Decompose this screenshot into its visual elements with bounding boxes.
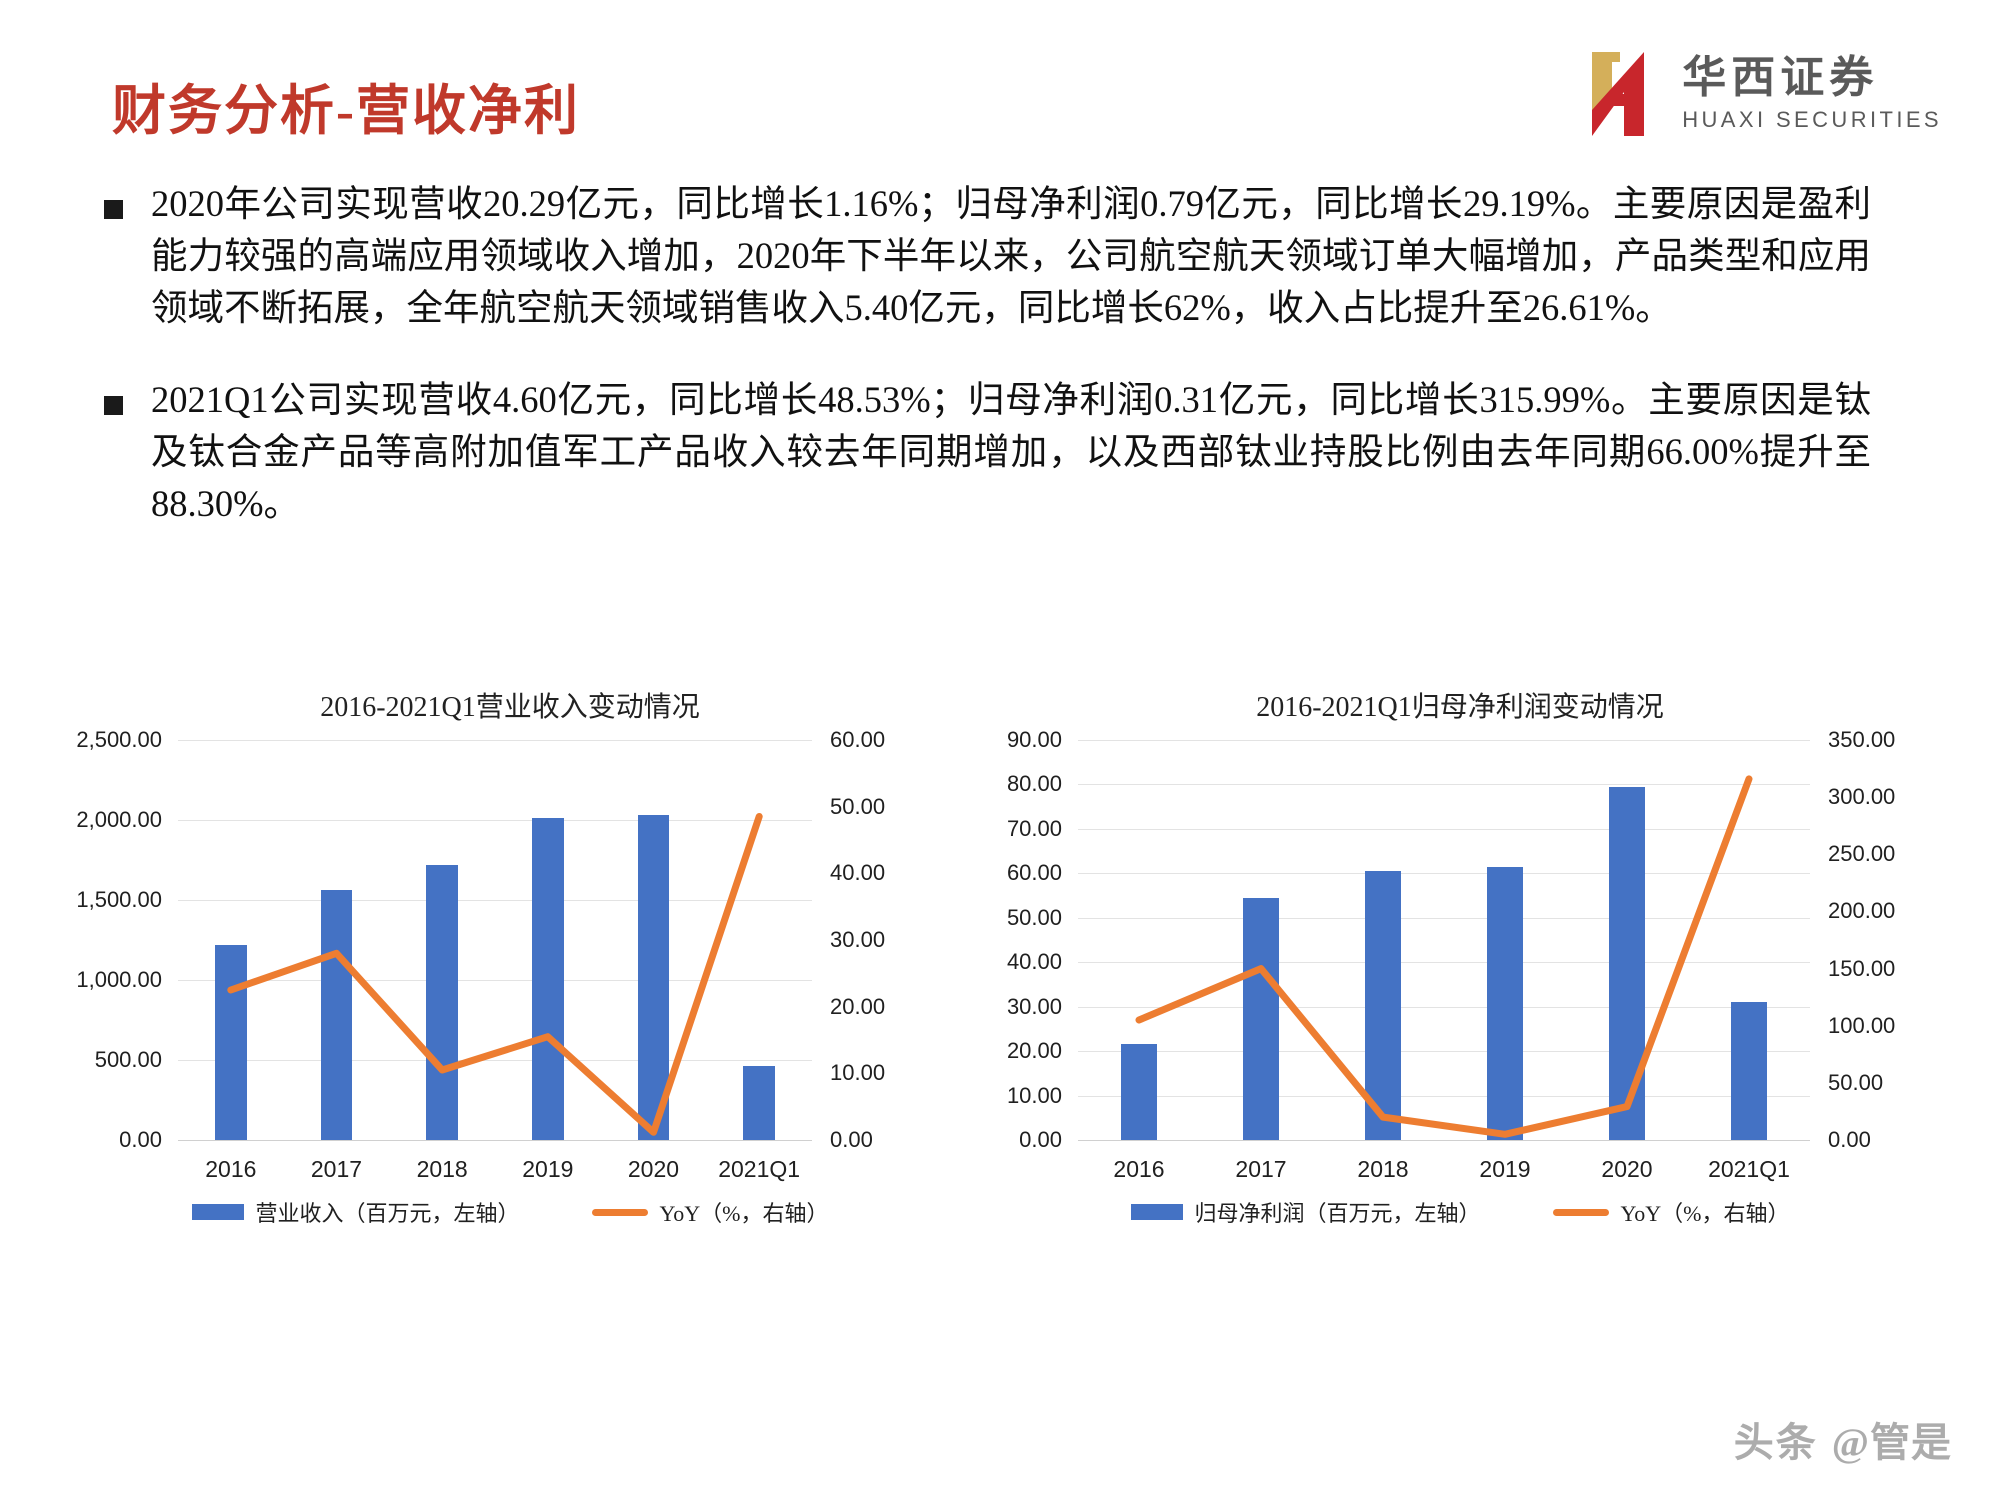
x-axis-tick-label: 2017 bbox=[284, 1156, 390, 1183]
legend-label: YoY（%，右轴） bbox=[1621, 1196, 1790, 1228]
legend-bar-swatch-icon bbox=[1131, 1204, 1183, 1220]
y2-axis-tick-label: 10.00 bbox=[830, 1062, 885, 1084]
legend-label: YoY（%，右轴） bbox=[660, 1196, 829, 1228]
plot-canvas bbox=[1078, 740, 1810, 1140]
y2-axis-tick-label: 30.00 bbox=[830, 929, 885, 951]
y-axis-tick-label: 40.00 bbox=[960, 951, 1062, 973]
y2-axis-tick-label: 350.00 bbox=[1828, 729, 1895, 751]
chart-legend: 营业收入（百万元，左轴）YoY（%，右轴） bbox=[70, 1196, 950, 1228]
chart-net-profit: 2016-2021Q1归母净利润变动情况 0.0010.0020.0030.00… bbox=[960, 690, 1960, 1330]
huaxi-h-logo-icon bbox=[1586, 48, 1660, 140]
y-axis-tick-label: 80.00 bbox=[960, 773, 1062, 795]
bullet-item: 2020年公司实现营收20.29亿元，同比增长1.16%；归母净利润0.79亿元… bbox=[104, 178, 1904, 334]
y-axis-tick-label: 70.00 bbox=[960, 818, 1062, 840]
y2-axis-tick-label: 250.00 bbox=[1828, 843, 1895, 865]
square-bullet-icon bbox=[104, 200, 123, 219]
y-axis-tick-label: 50.00 bbox=[960, 907, 1062, 929]
chart-revenue: 2016-2021Q1营业收入变动情况 0.00500.001,000.001,… bbox=[70, 690, 950, 1330]
y2-axis-tick-label: 0.00 bbox=[830, 1129, 873, 1151]
x-axis-tick-label: 2017 bbox=[1200, 1156, 1322, 1183]
watermark-toutiao: 头条 bbox=[1734, 1410, 1818, 1468]
square-bullet-icon bbox=[104, 396, 123, 415]
y-axis-tick-label: 2,000.00 bbox=[70, 809, 162, 831]
company-logo: 华西证券 HUAXI SECURITIES bbox=[1586, 48, 1942, 140]
y2-axis-tick-label: 50.00 bbox=[1828, 1072, 1883, 1094]
y-axis-tick-label: 1,500.00 bbox=[70, 889, 162, 911]
chart-title: 2016-2021Q1归母净利润变动情况 bbox=[960, 690, 1960, 726]
y-axis-tick-label: 2,500.00 bbox=[70, 729, 162, 751]
x-axis-tick-label: 2016 bbox=[1078, 1156, 1200, 1183]
chart-title: 2016-2021Q1营业收入变动情况 bbox=[70, 690, 950, 726]
y-axis-tick-label: 20.00 bbox=[960, 1040, 1062, 1062]
x-axis-tick-label: 2019 bbox=[1444, 1156, 1566, 1183]
y2-axis-tick-label: 60.00 bbox=[830, 729, 885, 751]
x-axis-tick-label: 2020 bbox=[1566, 1156, 1688, 1183]
y-axis-tick-label: 30.00 bbox=[960, 996, 1062, 1018]
page-title: 财务分析-营收净利 bbox=[112, 66, 580, 145]
gridline bbox=[178, 1140, 812, 1141]
bullet-text: 2021Q1公司实现营收4.60亿元，同比增长48.53%；归母净利润0.31亿… bbox=[151, 374, 1871, 530]
legend-label: 归母净利润（百万元，左轴） bbox=[1195, 1196, 1481, 1228]
logo-en-text: HUAXI SECURITIES bbox=[1682, 107, 1942, 133]
legend-line-swatch-icon bbox=[592, 1209, 648, 1216]
body-content: 2020年公司实现营收20.29亿元，同比增长1.16%；归母净利润0.79亿元… bbox=[104, 178, 1904, 570]
x-axis-tick-label: 2020 bbox=[601, 1156, 707, 1183]
y2-axis-tick-label: 150.00 bbox=[1828, 958, 1895, 980]
y2-axis-tick-label: 200.00 bbox=[1828, 900, 1895, 922]
x-axis-tick-label: 2016 bbox=[178, 1156, 284, 1183]
chart-legend: 归母净利润（百万元，左轴）YoY（%，右轴） bbox=[960, 1196, 1960, 1228]
y2-axis-tick-label: 0.00 bbox=[1828, 1129, 1871, 1151]
y-axis-tick-label: 60.00 bbox=[960, 862, 1062, 884]
y2-axis-tick-label: 100.00 bbox=[1828, 1015, 1895, 1037]
legend-label: 营业收入（百万元，左轴） bbox=[256, 1196, 520, 1228]
watermark-handle: @管是 bbox=[1832, 1410, 1952, 1468]
x-axis-tick-label: 2021Q1 bbox=[1688, 1156, 1810, 1183]
bullet-text: 2020年公司实现营收20.29亿元，同比增长1.16%；归母净利润0.79亿元… bbox=[151, 178, 1871, 334]
plot-canvas bbox=[178, 740, 812, 1140]
chart-plot-area: 0.00500.001,000.001,500.002,000.002,500.… bbox=[70, 740, 950, 1140]
legend-item[interactable]: 营业收入（百万元，左轴） bbox=[192, 1196, 520, 1228]
x-axis-tick-label: 2019 bbox=[495, 1156, 601, 1183]
y2-axis-tick-label: 40.00 bbox=[830, 862, 885, 884]
y-axis-tick-label: 0.00 bbox=[960, 1129, 1062, 1151]
legend-bar-swatch-icon bbox=[192, 1204, 244, 1220]
watermark: 头条 @管是 bbox=[1734, 1410, 1952, 1468]
legend-item[interactable]: YoY（%，右轴） bbox=[592, 1196, 829, 1228]
yoy-line bbox=[1078, 740, 1810, 1140]
y-axis-tick-label: 90.00 bbox=[960, 729, 1062, 751]
y-axis-tick-label: 0.00 bbox=[70, 1129, 162, 1151]
y-axis-tick-label: 500.00 bbox=[70, 1049, 162, 1071]
y2-axis-tick-label: 50.00 bbox=[830, 796, 885, 818]
legend-line-swatch-icon bbox=[1553, 1209, 1609, 1216]
x-axis-tick-label: 2018 bbox=[389, 1156, 495, 1183]
legend-item[interactable]: 归母净利润（百万元，左轴） bbox=[1131, 1196, 1481, 1228]
bullet-item: 2021Q1公司实现营收4.60亿元，同比增长48.53%；归母净利润0.31亿… bbox=[104, 374, 1904, 530]
y2-axis-tick-label: 20.00 bbox=[830, 996, 885, 1018]
y-axis-tick-label: 1,000.00 bbox=[70, 969, 162, 991]
y-axis-tick-label: 10.00 bbox=[960, 1085, 1062, 1107]
logo-cn-text: 华西证券 bbox=[1682, 55, 1878, 101]
legend-item[interactable]: YoY（%，右轴） bbox=[1553, 1196, 1790, 1228]
gridline bbox=[1078, 1140, 1810, 1141]
yoy-line bbox=[178, 740, 812, 1140]
y2-axis-tick-label: 300.00 bbox=[1828, 786, 1895, 808]
x-axis-tick-label: 2021Q1 bbox=[706, 1156, 812, 1183]
x-axis-tick-label: 2018 bbox=[1322, 1156, 1444, 1183]
chart-plot-area: 0.0010.0020.0030.0040.0050.0060.0070.008… bbox=[960, 740, 1960, 1140]
